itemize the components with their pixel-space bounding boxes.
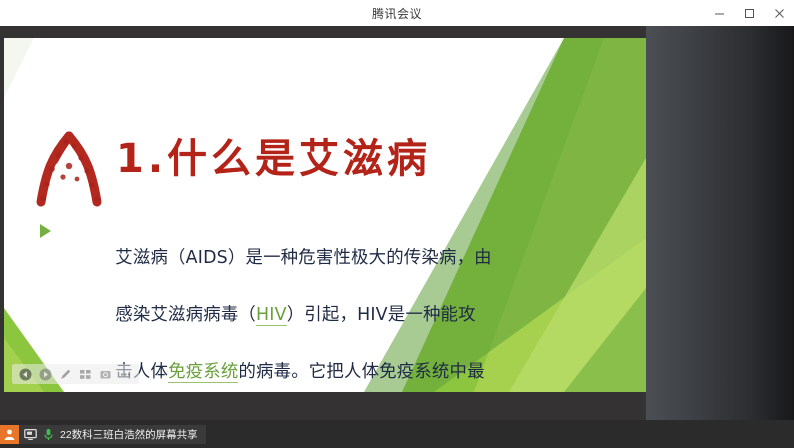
minimize-icon (714, 8, 725, 19)
screen-share-label: 22数科三班白浩然的屏幕共享 (60, 427, 198, 442)
window-title: 腾讯会议 (372, 5, 422, 22)
highlight-hiv: HIV (256, 305, 287, 326)
title-bar: 腾讯会议 (0, 0, 794, 27)
slide-title: 1.什么是艾滋病 (116, 126, 431, 184)
prev-slide-icon[interactable] (19, 368, 32, 381)
person-avatar-icon (0, 425, 19, 444)
next-slide-icon[interactable] (39, 368, 52, 381)
aids-ribbon-icon (32, 122, 106, 208)
body-line-3-b: 的病毒。它把人体免疫系统中最 (238, 362, 484, 382)
ellipsis-icon[interactable] (119, 368, 132, 381)
bottom-strip: 22数科三班白浩然的屏幕共享 (0, 420, 794, 448)
highlight-immune-system: 免疫系统 (168, 362, 238, 383)
close-icon (774, 8, 785, 19)
meeting-body: 1.什么是艾滋病 艾滋病（AIDS）是一种危害性极大的传染病，由 感染艾滋病病毒… (0, 26, 794, 448)
body-line-2-a: 感染艾滋病病毒（ (115, 305, 256, 325)
powerpoint-slideshow-toolbar[interactable] (12, 364, 139, 384)
screen-share-banner[interactable]: 22数科三班白浩然的屏幕共享 (0, 425, 206, 444)
grid-slides-icon[interactable] (79, 368, 92, 381)
powerpoint-slide[interactable]: 1.什么是艾滋病 艾滋病（AIDS）是一种危害性极大的传染病，由 感染艾滋病病毒… (4, 38, 646, 392)
shared-screen-stage[interactable]: 1.什么是艾滋病 艾滋病（AIDS）是一种危害性极大的传染病，由 感染艾滋病病毒… (0, 26, 646, 420)
triangle-bullet-icon (40, 224, 51, 238)
body-line-1: 艾滋病（AIDS）是一种危害性极大的传染病，由 (115, 248, 491, 268)
maximize-button[interactable] (734, 0, 764, 26)
pen-icon[interactable] (59, 368, 72, 381)
screen-share-icon (24, 428, 37, 441)
window-controls (704, 0, 794, 26)
maximize-icon (744, 8, 755, 19)
minimize-button[interactable] (704, 0, 734, 26)
body-line-2-b: ）引起，HIV是一种能攻 (287, 305, 476, 325)
magnify-slide-icon[interactable] (99, 368, 112, 381)
microphone-icon (42, 428, 55, 441)
participants-pane: 22数科三班白浩然 (646, 26, 794, 420)
close-button[interactable] (764, 0, 794, 26)
tencent-meeting-window: 腾讯会议 (0, 0, 794, 448)
